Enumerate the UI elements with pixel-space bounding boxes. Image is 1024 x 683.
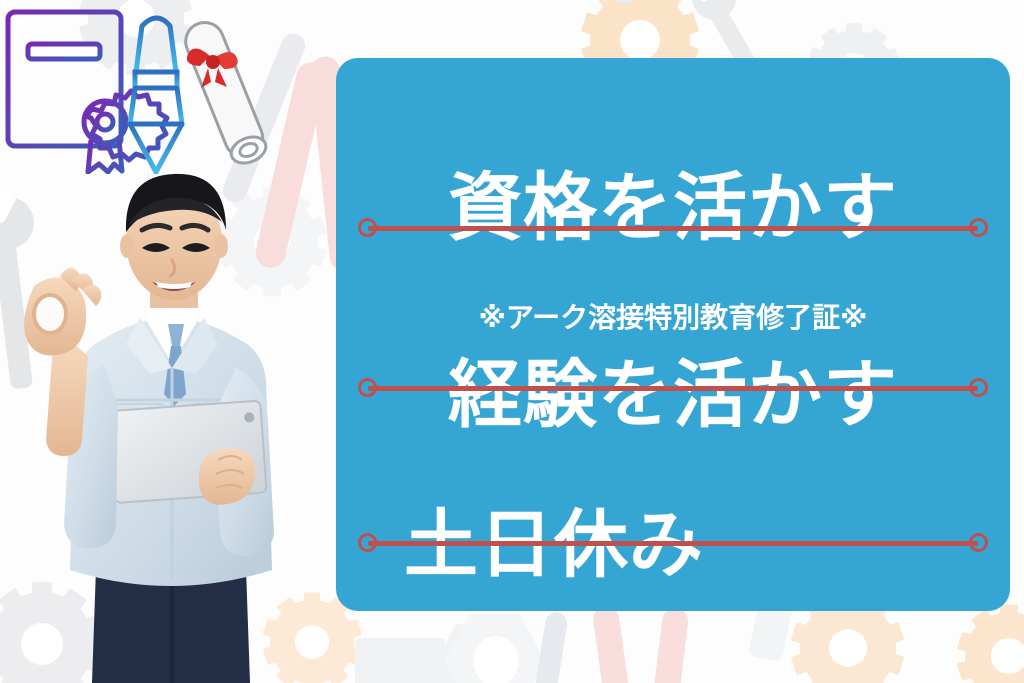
divider-line-2 <box>358 378 988 398</box>
divider-endpoint-right-icon <box>969 533 988 552</box>
award-seal-icon <box>84 91 167 172</box>
divider-bar <box>368 541 978 546</box>
gear-icon <box>800 600 896 683</box>
divider-endpoint-right-icon <box>969 378 988 397</box>
divider-line-1 <box>358 218 988 238</box>
qualification-icons-group <box>2 4 272 174</box>
divider-bar <box>368 226 978 231</box>
subline-line-1: ※アーク溶接特別教育修了証※ <box>336 296 1010 336</box>
qualification-icons-svg <box>2 4 272 174</box>
worker-figure-svg <box>0 168 340 683</box>
head <box>120 174 228 300</box>
job-advertisement-banner: 資格を活かす ※アーク溶接特別教育修了証※ 経験を活かす 土日休み <box>0 0 1024 683</box>
rolled-diploma-icon <box>180 17 271 168</box>
gear-icon <box>965 612 1024 683</box>
divider-bar <box>368 386 978 391</box>
headline-panel: 資格を活かす ※アーク溶接特別教育修了証※ 経験を活かす 土日休み <box>336 58 1010 611</box>
certificate-document-icon <box>8 12 121 146</box>
ok-hand-gesture <box>24 268 101 356</box>
worker-with-tablet-photo <box>0 168 340 683</box>
left-forearm <box>46 343 88 456</box>
divider-line-3 <box>358 533 988 553</box>
divider-endpoint-right-icon <box>969 218 988 237</box>
